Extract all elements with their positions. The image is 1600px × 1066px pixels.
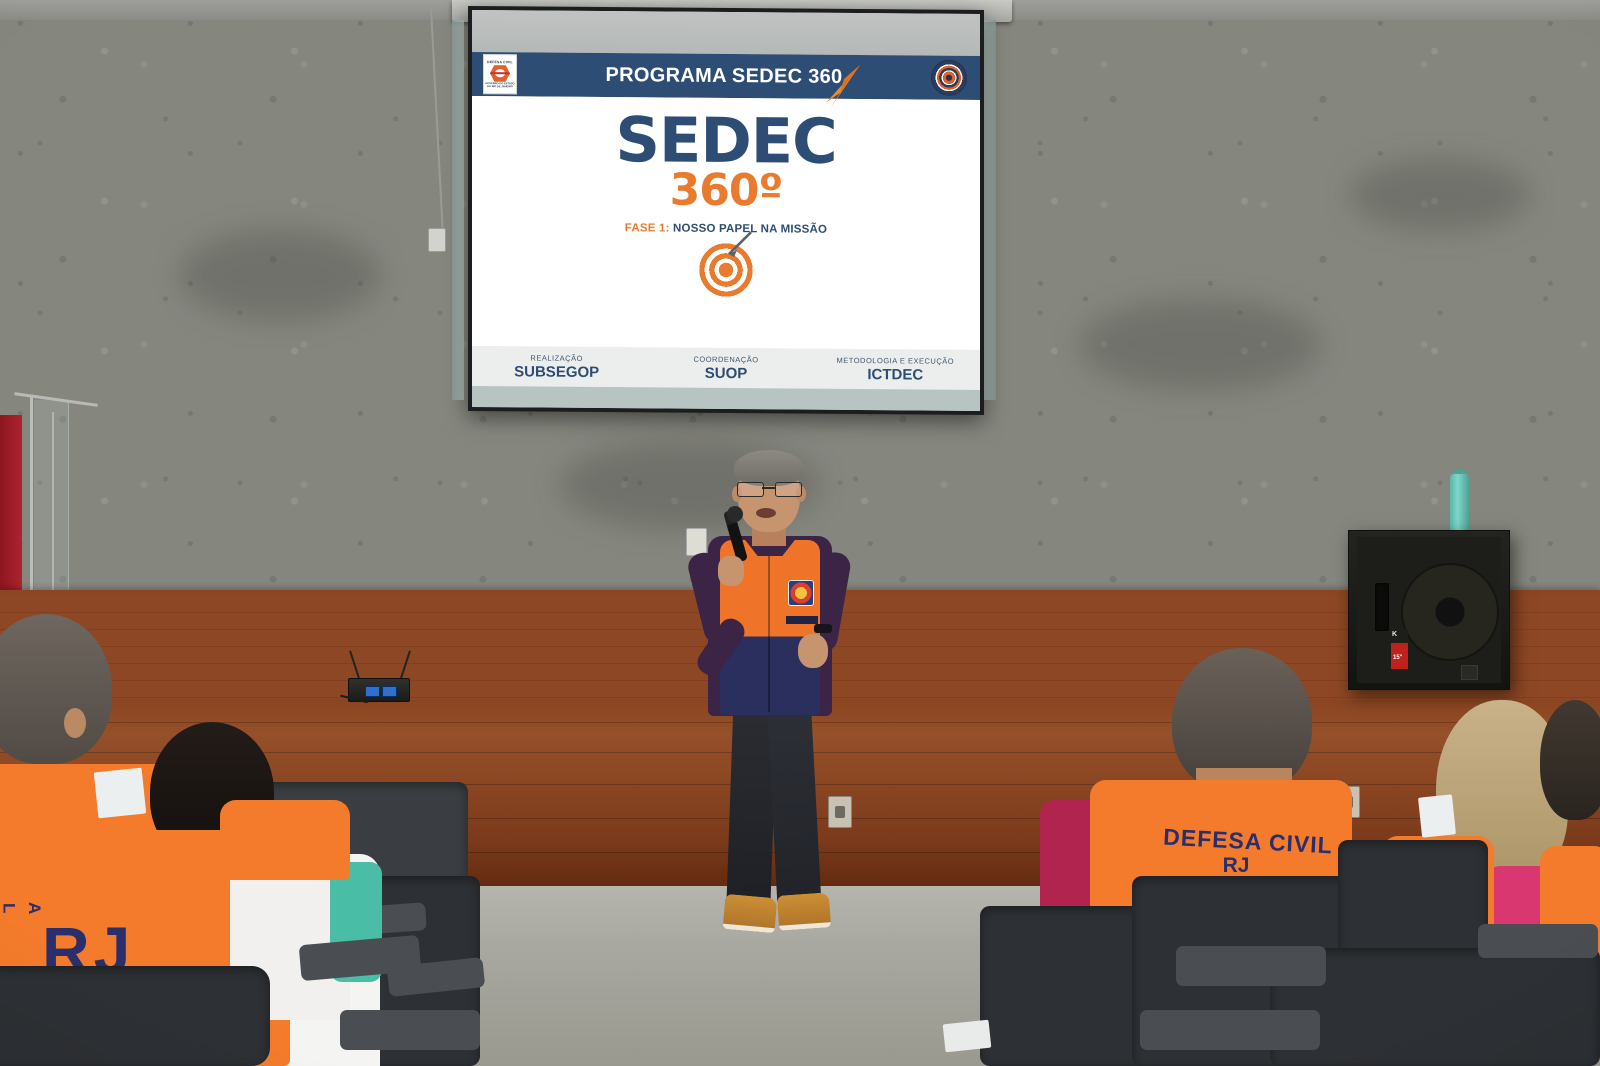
vest-name-tag	[786, 616, 818, 624]
slide-title: PROGRAMA SEDEC 360	[517, 63, 931, 89]
slide-header-bar: DEFESA CIVIL GOVERNO DO ESTADO DO RIO DE…	[472, 52, 980, 100]
presenter-hair	[734, 450, 804, 486]
slide-foot-band	[472, 386, 980, 411]
glasses-bridge	[762, 487, 775, 489]
sedec-wordmark: SEDEC	[472, 110, 980, 173]
vest-text-rj: RJ	[1196, 854, 1276, 878]
screen-side-bar	[984, 20, 996, 400]
red-banner	[0, 415, 22, 615]
credit-role: COORDENAÇÃO	[641, 354, 810, 364]
credit-name: ICTDEC	[811, 365, 980, 383]
presenter	[690, 448, 890, 948]
slide-body: SEDEC 360º FASE 1: NOSSO PAPEL NA MISSÃO	[472, 96, 980, 350]
presenter-hand-left	[718, 556, 744, 586]
audience-paper	[94, 768, 147, 819]
auditorium-seat[interactable]	[0, 966, 270, 1066]
seat-armrest	[1478, 924, 1598, 958]
speaker-cone	[1401, 563, 1499, 661]
credit-item: COORDENAÇÃO SUOP	[641, 354, 810, 382]
bullseye-target-icon	[699, 243, 753, 297]
credit-role: REALIZAÇÃO	[472, 353, 641, 363]
presenter-mouth	[756, 508, 776, 518]
eyeglasses-icon	[737, 482, 801, 495]
wristwatch	[814, 624, 832, 633]
receiver-display	[365, 686, 380, 697]
institutional-seal-icon	[931, 60, 967, 96]
projected-slide: DEFESA CIVIL GOVERNO DO ESTADO DO RIO DE…	[472, 10, 980, 411]
audience-vest	[220, 800, 350, 880]
vest-text-side: A L	[0, 902, 47, 914]
seat-armrest	[340, 1010, 480, 1050]
crest-bottom-label: GOVERNO DO ESTADO DO RIO DE JANEIRO	[484, 83, 516, 89]
bass-port	[1375, 583, 1389, 631]
credit-role: METODOLOGIA E EXECUÇÃO	[811, 355, 980, 365]
credit-item: REALIZAÇÃO SUBSEGOP	[472, 353, 641, 381]
screen-side-bar	[452, 20, 464, 400]
presenter-hand-right	[798, 634, 828, 668]
presenter-boot-left	[723, 894, 778, 933]
speaker-badge	[1461, 665, 1478, 680]
speaker-face: K 15"	[1357, 537, 1501, 683]
water-bottle	[1450, 474, 1469, 534]
auditorium-seat[interactable]	[1338, 840, 1488, 960]
phase-prefix: FASE 1:	[625, 222, 670, 234]
vest-badge-patch	[788, 580, 814, 606]
receiver-display	[382, 686, 397, 697]
cable-junction-box	[428, 228, 446, 252]
audience-ear	[64, 708, 86, 738]
speaker-size-label: 15"	[1393, 655, 1403, 661]
sedec-number: 360º	[472, 167, 980, 215]
wall-smudge	[180, 230, 380, 320]
audience-head	[1540, 700, 1600, 820]
audience-paper	[943, 1020, 992, 1053]
defesa-civil-crest-icon: DEFESA CIVIL GOVERNO DO ESTADO DO RIO DE…	[483, 54, 517, 94]
slide-credits: REALIZAÇÃO SUBSEGOP COORDENAÇÃO SUOP MET…	[472, 346, 980, 390]
credit-item: METODOLOGIA E EXECUÇÃO ICTDEC	[811, 355, 980, 383]
seat-armrest	[1176, 946, 1326, 986]
seat-armrest	[1140, 1010, 1320, 1050]
wall-smudge	[1080, 300, 1320, 390]
vest-zipper	[768, 542, 770, 712]
sedec-logo: SEDEC 360º	[472, 110, 980, 215]
glasses-lens	[737, 482, 764, 497]
presenter-leg-right	[767, 697, 822, 905]
subwoofer-speaker: K 15"	[1348, 530, 1510, 690]
presenter-boot-right	[777, 892, 831, 931]
crest-emblem-icon	[490, 65, 510, 82]
audience-paper	[1418, 794, 1456, 837]
glasses-lens	[775, 482, 802, 497]
speaker-brand-label: K	[1392, 631, 1397, 638]
credit-name: SUBSEGOP	[472, 363, 641, 381]
wall-smudge	[1350, 160, 1530, 230]
crest-top-label: DEFESA CIVIL	[487, 60, 513, 64]
presenter-legs	[726, 698, 818, 910]
auditorium-scene: DEFESA CIVIL GOVERNO DO ESTADO DO RIO DE…	[0, 0, 1600, 1066]
credit-name: SUOP	[641, 364, 810, 382]
slide-top-band	[472, 10, 980, 56]
